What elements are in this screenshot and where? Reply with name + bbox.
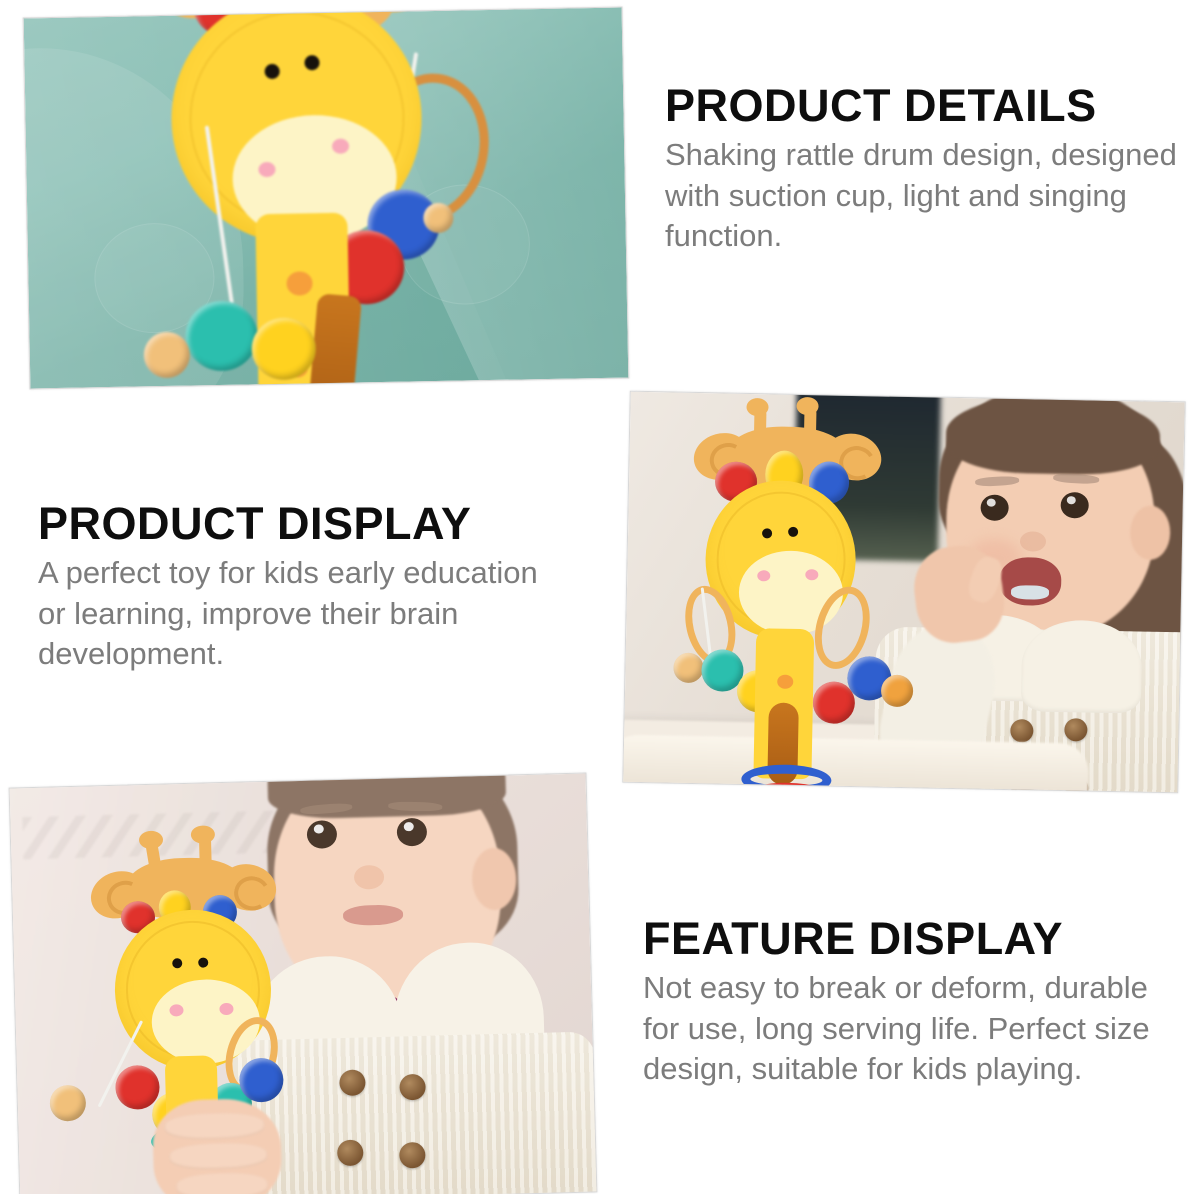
- product-display-heading: PRODUCT DISPLAY: [38, 500, 548, 547]
- bead-orange-right: [881, 675, 914, 708]
- product-detail-page: PRODUCT DETAILS Shaking rattle drum desi…: [0, 0, 1204, 1194]
- bead-tan-right: [423, 203, 454, 234]
- bead-teal-left: [185, 300, 258, 371]
- girl-holding-photo: [9, 773, 598, 1194]
- giraffe-horn-tip-right: [191, 825, 215, 844]
- suction-ring-blue: [741, 764, 832, 792]
- giraffe-rattle-toy: [663, 400, 941, 792]
- baby-teeth: [1011, 585, 1049, 600]
- feature-display-text-block: FEATURE DISPLAY Not easy to break or def…: [643, 915, 1173, 1089]
- product-display-text-block: PRODUCT DISPLAY A perfect toy for kids e…: [38, 500, 548, 674]
- giraffe-rattle-toy: [132, 8, 562, 389]
- bead-blue-right: [239, 1058, 284, 1103]
- product-display-body: A perfect toy for kids early education o…: [38, 553, 548, 674]
- feature-display-heading: FEATURE DISPLAY: [643, 915, 1173, 962]
- product-details-heading: PRODUCT DETAILS: [665, 82, 1185, 129]
- feature-display-body: Not easy to break or deform, durable for…: [643, 968, 1173, 1089]
- product-details-text-block: PRODUCT DETAILS Shaking rattle drum desi…: [665, 82, 1185, 256]
- bead-tan-left: [673, 653, 704, 684]
- bead-red-left: [115, 1065, 160, 1110]
- bead-tan-left: [143, 332, 190, 379]
- giraffe-horn-tip-left: [139, 831, 163, 850]
- product-details-body: Shaking rattle drum design, designed wit…: [665, 135, 1185, 256]
- product-closeup-photo: [23, 7, 630, 390]
- baby-highchair-photo: [622, 391, 1185, 794]
